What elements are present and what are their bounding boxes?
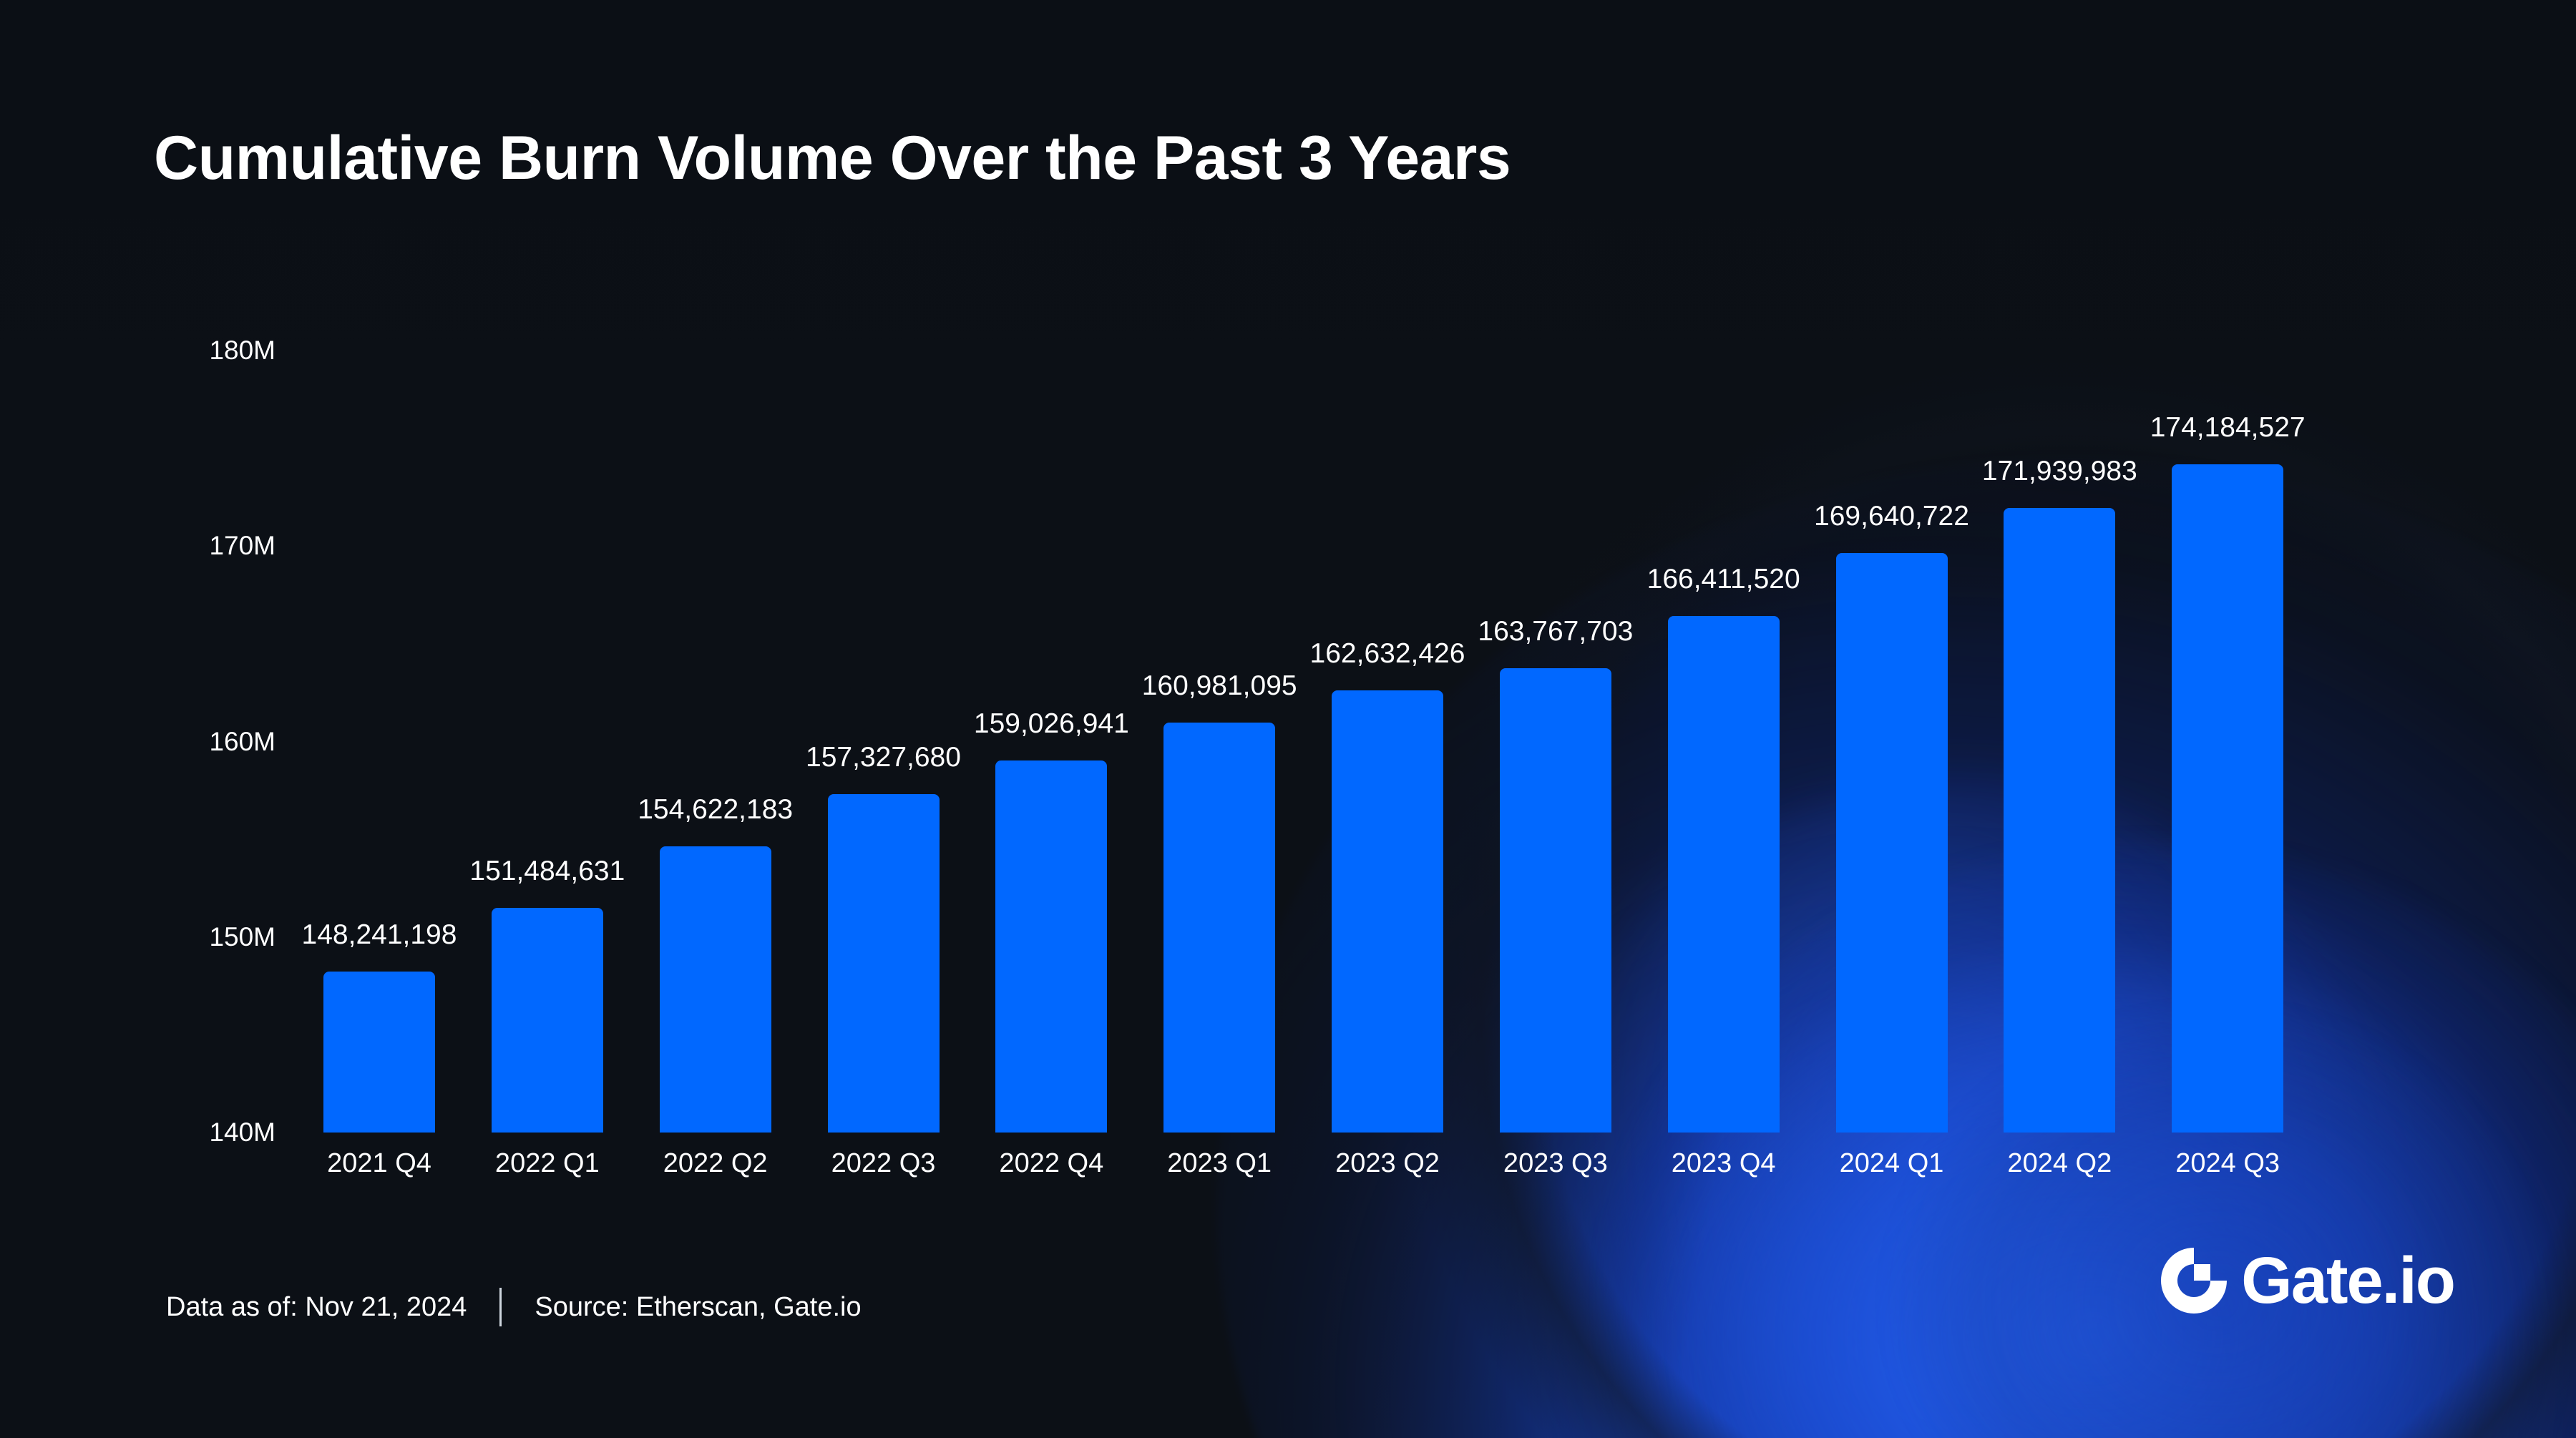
bar[interactable] bbox=[995, 760, 1107, 1133]
bar-item[interactable]: 174,184,5272024 Q3 bbox=[2172, 0, 2283, 1438]
bar[interactable] bbox=[660, 846, 771, 1133]
x-axis-tick: 2021 Q4 bbox=[327, 1148, 431, 1179]
bar-item[interactable]: 162,632,4262023 Q2 bbox=[1332, 0, 1443, 1438]
bar-value-label: 166,411,520 bbox=[1647, 564, 1800, 595]
bar-item[interactable]: 151,484,6312022 Q1 bbox=[492, 0, 603, 1438]
source-label: Source: Etherscan, Gate.io bbox=[535, 1292, 861, 1323]
bar-chart-plot: 180M170M160M150M140M 148,241,1982021 Q41… bbox=[0, 0, 2576, 1438]
bar-value-label: 174,184,527 bbox=[2150, 412, 2306, 444]
y-axis-tick: 150M bbox=[209, 922, 275, 952]
x-axis-tick: 2024 Q1 bbox=[1840, 1148, 1944, 1179]
bar-value-label: 162,632,426 bbox=[1310, 638, 1465, 670]
bar-item[interactable]: 169,640,7222024 Q1 bbox=[1836, 0, 1948, 1438]
x-axis-tick: 2022 Q2 bbox=[663, 1148, 768, 1179]
bar-value-label: 169,640,722 bbox=[1814, 501, 1969, 532]
bar-value-label: 160,981,095 bbox=[1142, 670, 1297, 702]
x-axis-tick: 2023 Q1 bbox=[1167, 1148, 1272, 1179]
x-axis-tick: 2024 Q2 bbox=[2007, 1148, 2112, 1179]
bar-value-label: 148,241,198 bbox=[302, 919, 457, 951]
bar[interactable] bbox=[1163, 723, 1275, 1133]
infographic-canvas: Cumulative Burn Volume Over the Past 3 Y… bbox=[0, 0, 2576, 1438]
x-axis-tick: 2023 Q3 bbox=[1503, 1148, 1608, 1179]
x-axis-tick: 2022 Q1 bbox=[495, 1148, 600, 1179]
x-axis-tick: 2024 Q3 bbox=[2175, 1148, 2280, 1179]
y-axis: 180M170M160M150M140M bbox=[161, 0, 275, 1438]
y-axis-tick: 160M bbox=[209, 727, 275, 757]
bar-item[interactable]: 157,327,6802022 Q3 bbox=[828, 0, 940, 1438]
bar[interactable] bbox=[1500, 668, 1611, 1133]
bar-item[interactable]: 154,622,1832022 Q2 bbox=[660, 0, 771, 1438]
x-axis-tick: 2022 Q3 bbox=[831, 1148, 936, 1179]
bar-item[interactable]: 148,241,1982021 Q4 bbox=[323, 0, 435, 1438]
bar-value-label: 157,327,680 bbox=[806, 742, 961, 773]
gate-circle-logo-icon bbox=[2158, 1245, 2230, 1316]
y-axis-tick: 170M bbox=[209, 531, 275, 561]
bar-item[interactable]: 160,981,0952023 Q1 bbox=[1163, 0, 1275, 1438]
x-axis-tick: 2023 Q4 bbox=[1672, 1148, 1776, 1179]
footer: Data as of: Nov 21, 2024 Source: Ethersc… bbox=[166, 1288, 862, 1326]
x-axis-tick: 2023 Q2 bbox=[1335, 1148, 1440, 1179]
brand-logo: Gate.io bbox=[2158, 1245, 2454, 1316]
bar-value-label: 159,026,941 bbox=[974, 708, 1129, 740]
bar[interactable] bbox=[492, 908, 603, 1133]
bar-item[interactable]: 171,939,9832024 Q2 bbox=[2004, 0, 2115, 1438]
data-as-of-label: Data as of: Nov 21, 2024 bbox=[166, 1292, 467, 1323]
brand-wordmark: Gate.io bbox=[2241, 1248, 2454, 1314]
bar-value-label: 151,484,631 bbox=[469, 856, 625, 887]
bar[interactable] bbox=[2172, 464, 2283, 1133]
bar[interactable] bbox=[1836, 553, 1948, 1133]
bar-value-label: 154,622,183 bbox=[638, 794, 793, 826]
bar[interactable] bbox=[828, 794, 940, 1133]
bar[interactable] bbox=[1668, 616, 1780, 1133]
bar-item[interactable]: 163,767,7032023 Q3 bbox=[1500, 0, 1611, 1438]
bar[interactable] bbox=[323, 972, 435, 1133]
bar-item[interactable]: 159,026,9412022 Q4 bbox=[995, 0, 1107, 1438]
bar-value-label: 163,767,703 bbox=[1478, 616, 1633, 647]
footer-divider bbox=[499, 1288, 502, 1326]
bar-value-label: 171,939,983 bbox=[1982, 456, 2137, 487]
bar[interactable] bbox=[1332, 690, 1443, 1133]
bar[interactable] bbox=[2004, 508, 2115, 1133]
y-axis-tick: 140M bbox=[209, 1117, 275, 1148]
x-axis-tick: 2022 Q4 bbox=[999, 1148, 1103, 1179]
y-axis-tick: 180M bbox=[209, 336, 275, 366]
bar-item[interactable]: 166,411,5202023 Q4 bbox=[1668, 0, 1780, 1438]
